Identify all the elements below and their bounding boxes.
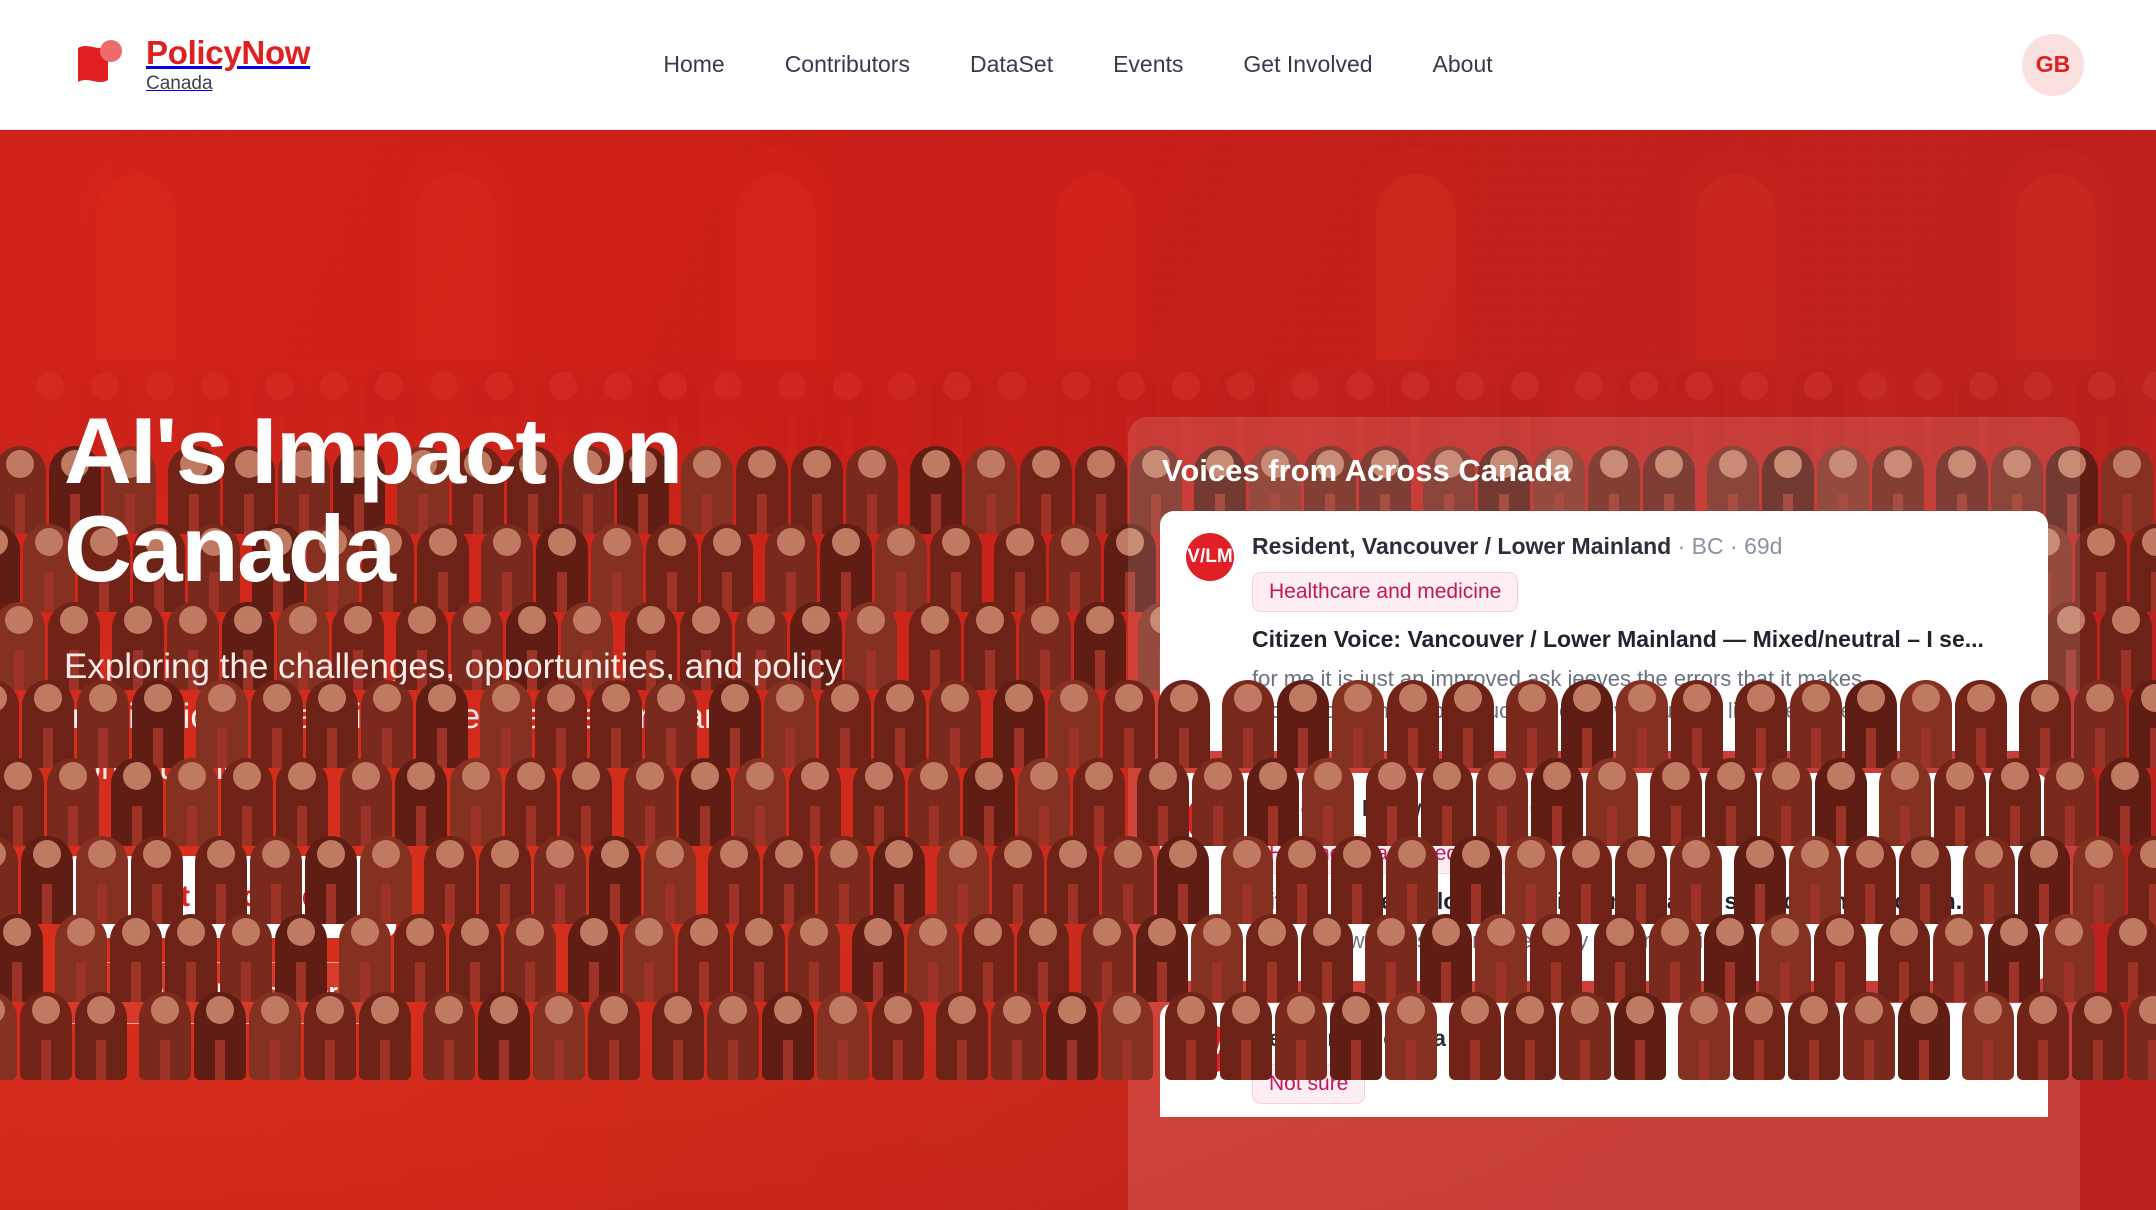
meta-separator: · [1678,533,1686,559]
voice-avatar: V/LM [1186,533,1234,581]
voices-count-number: 1,011 [1337,1206,1408,1210]
voice-title: Citizen Voice: Vancouver / Lower Mainlan… [1252,626,2022,653]
voice-author: Resident, Vancouver / Lower Mainland [1252,533,1671,559]
nav-item-home[interactable]: Home [663,51,724,78]
brand-title: PolicyNow [146,36,310,69]
nav-item-contributors[interactable]: Contributors [785,51,910,78]
voice-topic-tag[interactable]: Healthcare and medicine [1252,572,1518,612]
nav-item-events[interactable]: Events [1113,51,1183,78]
nav-item-get-involved[interactable]: Get Involved [1243,51,1372,78]
site-header: PolicyNow Canada Home Contributors DataS… [0,0,2156,130]
voice-author-meta: Resident, Vancouver / Lower Mainland · B… [1252,533,2022,560]
nav-item-about[interactable]: About [1433,51,1493,78]
brand-subtitle: Canada [146,74,310,93]
voices-count-footer: 1,011 Canadians have shared their though… [1128,1206,2080,1210]
meta-separator: · [1730,533,1738,559]
page-title: AI's Impact on Canada [64,402,964,598]
nav-item-dataset[interactable]: DataSet [970,51,1053,78]
book-flag-icon [68,34,130,96]
brand-logo-link[interactable]: PolicyNow Canada [68,34,310,96]
user-avatar[interactable]: GB [2022,34,2084,96]
voice-region: BC [1692,533,1724,559]
voice-age: 69d [1744,533,1782,559]
main-navigation: Home Contributors DataSet Events Get Inv… [663,51,1492,78]
hero-section: AI's Impact on Canada Exploring the chal… [0,130,2156,1210]
voices-panel-title: Voices from Across Canada [1162,453,2046,489]
